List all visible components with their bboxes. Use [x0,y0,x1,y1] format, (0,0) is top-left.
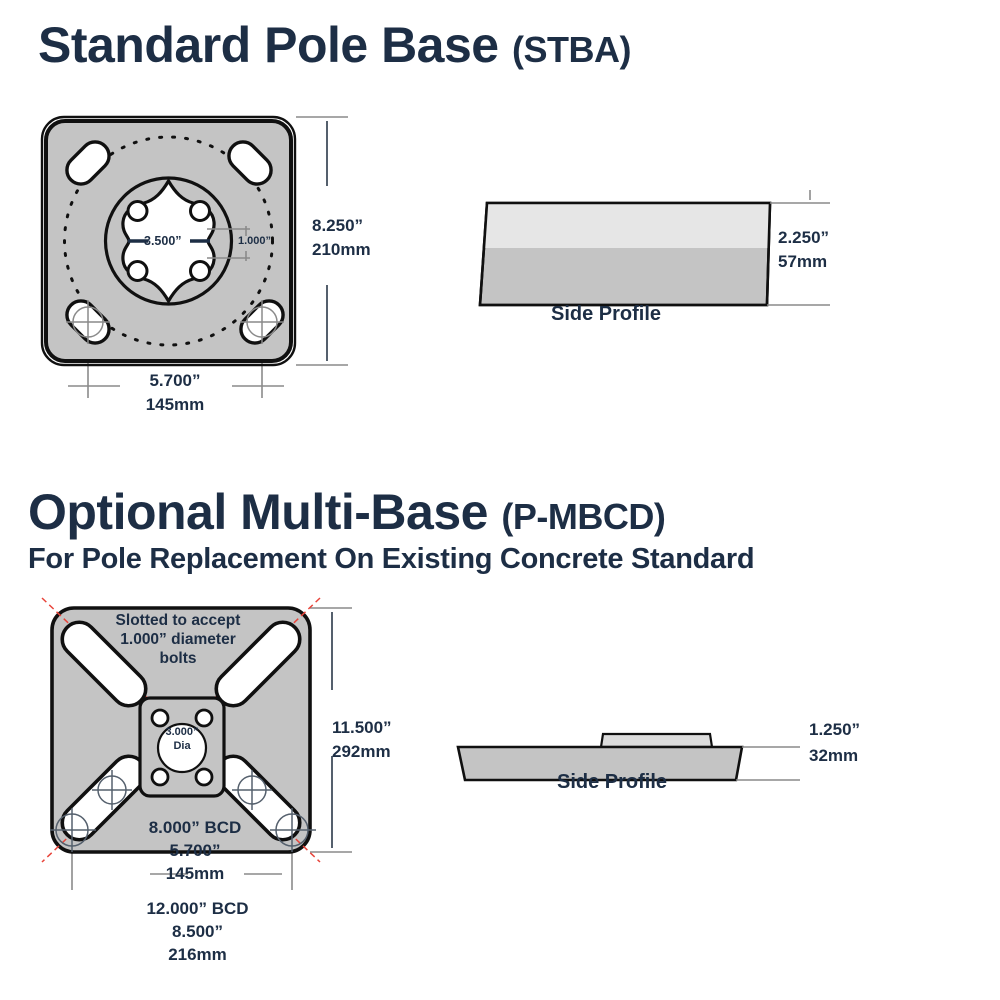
side-thickness-dimension-mm: 57mm [778,252,827,272]
side-profile-caption-1: Side Profile [551,303,661,326]
section2-heading-main: Optional Multi-Base [28,484,488,540]
side-thickness-dimension-inch: 2.250” [778,228,829,248]
outer-dimension-inch: 8.500” [105,922,290,942]
section1-heading-code: (STBA) [512,29,631,70]
inner-bcd-label: 8.000” BCD [120,818,270,838]
inner-dimension-inch: 5.700” [120,841,270,861]
drawing-page: Standard Pole Base (STBA) [0,0,1000,1000]
section2-heading: Optional Multi-Base (P-MBCD) [28,487,665,542]
side-profile-caption-2: Side Profile [557,771,667,794]
multi-side-thickness-inch: 1.250” [809,720,860,740]
center-hole-dimension-label: 3.500” [144,234,182,248]
multi-side-thickness-mm: 32mm [809,746,858,766]
outer-dimension-mm: 216mm [105,945,290,965]
slot-note: Slotted to accept 1.000” diameter bolts [78,612,278,669]
plate-width-dimension-inch: 5.700” [110,371,240,391]
plate-height-dimension-inch: 8.250” [312,216,363,236]
outer-bcd-label: 12.000” BCD [105,899,290,919]
side-raised-block [601,734,712,747]
plate-width-dimension-mm: 145mm [110,395,240,415]
slot-note-line-3: bolts [159,650,196,667]
bolt-hole-dimension-label: 1.000” [238,235,271,248]
inner-dimension-mm: 145mm [120,864,270,884]
section2-heading-code: (P-MBCD) [501,496,665,537]
slot-note-line-2: 1.000” diameter [120,631,235,648]
plate-height-dimension-mm: 210mm [312,240,371,260]
side-profile-highlight-band [478,203,774,248]
slot-note-line-1: Slotted to accept [116,612,241,629]
standard-pole-base-side-profile [440,150,900,370]
center-circle-label-line-1: 3.000” [152,726,212,739]
multi-side-witness-lines [736,747,800,780]
multi-plate-height-dimension-mm: 292mm [332,742,391,762]
center-circle-label-line-2: Dia [152,740,212,753]
multi-plate-height-dimension-inch: 11.500” [332,718,392,738]
